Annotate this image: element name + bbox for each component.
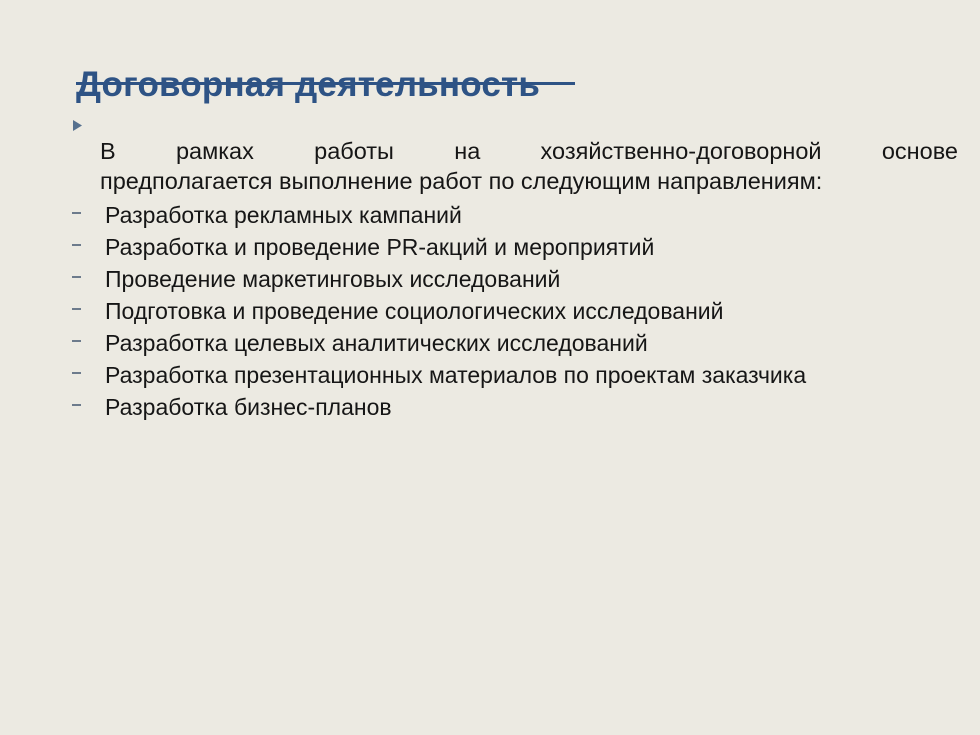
- list-item-label: Разработка презентационных материалов по…: [105, 360, 972, 390]
- dash-icon: [72, 360, 105, 374]
- list-item-label: Проведение маркетинговых исследований: [105, 264, 972, 294]
- list-item: Разработка и проведение PR-акций и мероп…: [72, 232, 972, 264]
- list-item: Разработка целевых аналитических исследо…: [72, 328, 972, 360]
- services-list: Разработка рекламных кампаний Разработка…: [72, 200, 972, 424]
- dash-icon: [72, 296, 105, 310]
- dash-icon: [72, 328, 105, 342]
- list-item: Разработка презентационных материалов по…: [72, 360, 972, 392]
- list-item: Проведение маркетинговых исследований: [72, 264, 972, 296]
- list-item: Разработка рекламных кампаний: [72, 200, 972, 232]
- list-item-label: Разработка бизнес-планов: [105, 392, 972, 422]
- list-item: Разработка бизнес-планов: [72, 392, 972, 424]
- list-item-label: Разработка рекламных кампаний: [105, 200, 972, 230]
- intro-line-2: предполагается выполнение работ по следу…: [100, 166, 958, 196]
- dash-icon: [72, 392, 105, 406]
- presentation-slide: Договорная деятельность В рамках работы …: [0, 0, 980, 735]
- intro-line-1: В рамках работы на хозяйственно-договорн…: [100, 136, 958, 166]
- intro-paragraph-text: В рамках работы на хозяйственно-договорн…: [100, 136, 958, 196]
- list-item: Подготовка и проведение социологических …: [72, 296, 972, 328]
- triangle-right-icon: [72, 112, 100, 132]
- title-underline-rule: [76, 82, 575, 85]
- list-item-label: Разработка и проведение PR-акций и мероп…: [105, 232, 972, 262]
- dash-icon: [72, 200, 105, 214]
- dash-icon: [72, 264, 105, 278]
- list-item-label: Подготовка и проведение социологических …: [105, 296, 972, 326]
- slide-title: Договорная деятельность: [76, 65, 540, 104]
- list-item-label: Разработка целевых аналитических исследо…: [105, 328, 972, 358]
- dash-icon: [72, 232, 105, 246]
